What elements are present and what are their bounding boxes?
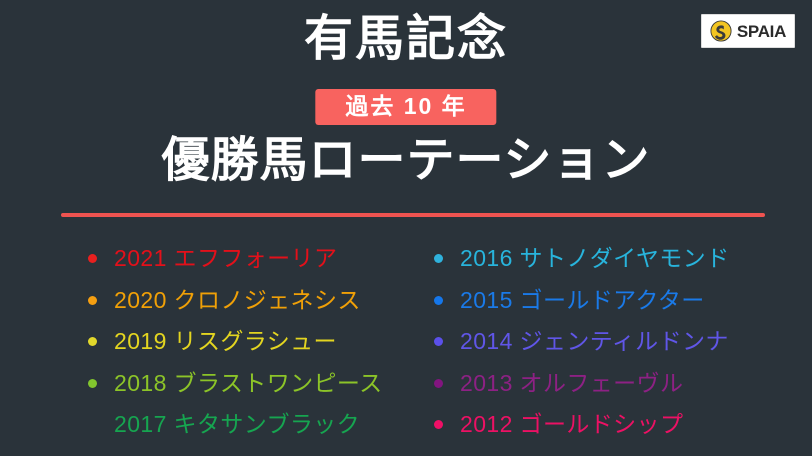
list-item-label: 2017 キタサンブラック [114, 413, 360, 436]
list-item: 2019 リスグラシュー [88, 321, 406, 363]
list-item: 2021 エフフォーリア [88, 238, 406, 280]
list-item-label: 2020 クロノジェネシス [114, 289, 361, 312]
bullet-icon [434, 254, 443, 263]
bullet-icon [434, 420, 443, 429]
page-title: 有馬記念 [0, 12, 812, 67]
list-item-label: 2018 ブラストワンピース [114, 372, 383, 395]
bullet-icon [88, 296, 97, 305]
list-item: 2018 ブラストワンピース [88, 363, 406, 405]
list-item-label: 2016 サトノダイヤモンド [460, 247, 729, 270]
list-item: 2012 ゴールドシップ [434, 404, 812, 446]
right-column: 2016 サトノダイヤモンド 2015 ゴールドアクター 2014 ジェンティル… [406, 238, 812, 444]
bullet-icon [434, 337, 443, 346]
bullet-icon [88, 379, 97, 388]
period-badge: 過去 10 年 [315, 89, 496, 125]
list-item-label: 2021 エフフォーリア [114, 247, 337, 270]
list-item-label: 2013 オルフェーヴル [460, 372, 683, 395]
winner-rotation-lists: 2021 エフフォーリア 2020 クロノジェネシス 2019 リスグラシュー … [0, 238, 812, 444]
list-item-label: 2012 ゴールドシップ [460, 413, 683, 436]
list-item: 2020 クロノジェネシス [88, 280, 406, 322]
bullet-icon [434, 379, 443, 388]
bullet-icon [434, 296, 443, 305]
page-subtitle: 優勝馬ローテーション [0, 132, 812, 190]
list-item-label: 2015 ゴールドアクター [460, 289, 705, 312]
title-divider [61, 213, 765, 217]
list-item: 2016 サトノダイヤモンド [434, 238, 812, 280]
list-item: 2017 キタサンブラック [88, 404, 406, 446]
bullet-icon [88, 420, 97, 429]
list-item: 2013 オルフェーヴル [434, 363, 812, 405]
poster-canvas: SPAIA 有馬記念 過去 10 年 優勝馬ローテーション 2021 エフフォー… [0, 0, 812, 456]
bullet-icon [88, 337, 97, 346]
list-item-label: 2014 ジェンティルドンナ [460, 330, 729, 353]
list-item: 2014 ジェンティルドンナ [434, 321, 812, 363]
list-item-label: 2019 リスグラシュー [114, 330, 337, 353]
bullet-icon [88, 254, 97, 263]
list-item: 2015 ゴールドアクター [434, 280, 812, 322]
left-column: 2021 エフフォーリア 2020 クロノジェネシス 2019 リスグラシュー … [0, 238, 406, 444]
